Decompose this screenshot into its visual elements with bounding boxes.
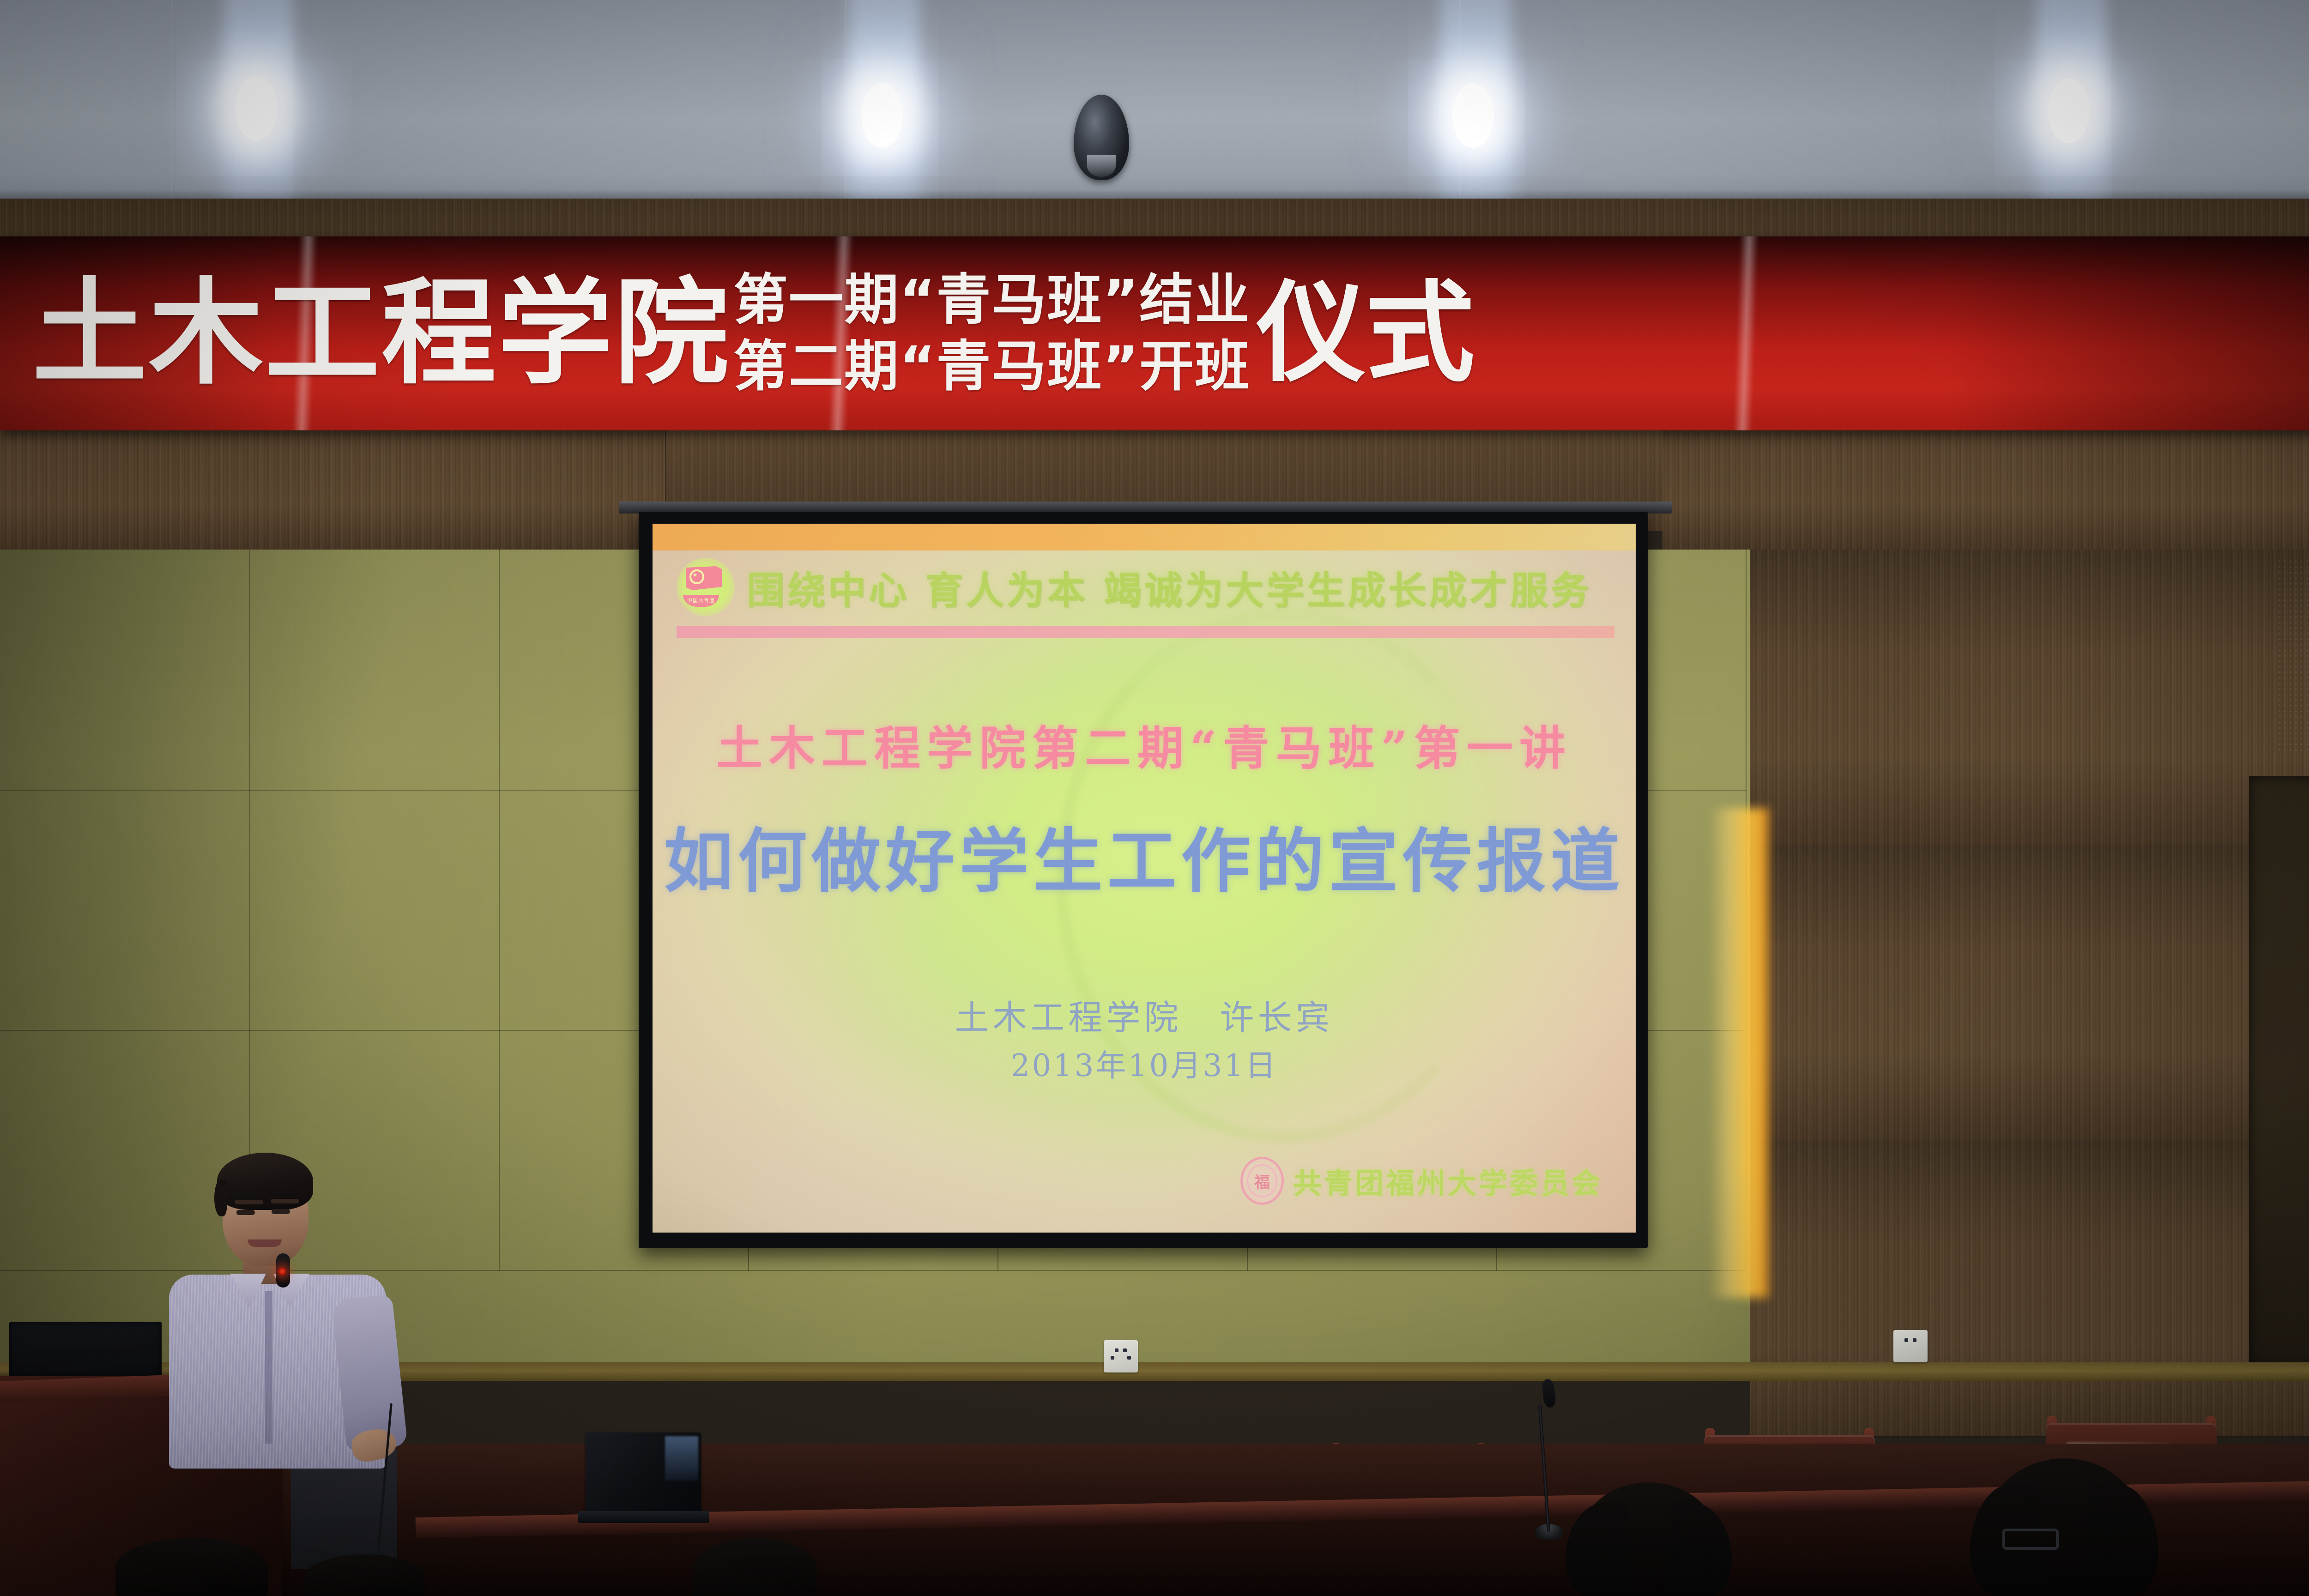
fuzhou-university-seal-icon: 福: [1240, 1157, 1284, 1205]
wall-socket-left: [1104, 1340, 1138, 1372]
glasses-icon: [2002, 1529, 2059, 1550]
spotlight-flare-4: [1972, 14, 2166, 208]
projection-screen-frame: 中国共青团 围绕中心 育人为本 竭诚为大学生成长成才服务 土木工程学院第二期“青…: [639, 512, 1648, 1248]
audience-head: [1579, 1482, 1718, 1596]
audience-head: [1986, 1458, 2143, 1596]
emblem-ribbon-text: 中国共青团: [683, 597, 719, 604]
banner-line-2: 第二期“青马班”开班: [733, 333, 1250, 400]
wood-panel-right: [1750, 845, 2074, 1142]
slide-footer-organization: 共青团福州大学委员会: [1293, 1160, 1602, 1202]
wall-accent-glow: [1709, 808, 1769, 1298]
slide-divider-rule: [677, 626, 1614, 638]
ceremony-banner: 土木工程学院 第一期“青马班”结业 第二期“青马班”开班 仪式: [0, 236, 2309, 430]
microphone-status-led: [278, 1267, 286, 1276]
audience-head: [115, 1538, 268, 1596]
audience-head: [305, 1554, 425, 1596]
slide-author: 土木工程学院 许长宾: [653, 990, 1636, 1040]
banner-line-1: 第一期“青马班”结业: [733, 267, 1250, 333]
speaker-presenter: [152, 1144, 402, 1468]
projected-slide: 中国共青团 围绕中心 育人为本 竭诚为大学生成长成才服务 土木工程学院第二期“青…: [653, 524, 1636, 1233]
slide-footer: 福 共青团福州大学委员会: [1240, 1157, 1602, 1205]
slide-title: 如何做好学生工作的宣传报道: [653, 805, 1636, 906]
slide-accent-band: [653, 524, 1636, 550]
wall-vent: [2277, 559, 2309, 753]
slide-date: 2013年10月31日: [653, 1041, 1636, 1085]
spotlight-flare-3: [1376, 18, 1570, 212]
slide-subtitle: 土木工程学院第二期“青马班”第一讲: [653, 711, 1636, 778]
wood-panel-right: [1750, 550, 2074, 846]
slide-header-slogan: 围绕中心 育人为本 竭诚为大学生成长成才服务: [747, 560, 1591, 615]
auditorium-photo-scene: 土木工程学院 第一期“青马班”结业 第二期“青马班”开班 仪式 中国共青团 围绕…: [0, 0, 2309, 1596]
banner-lead-text: 土木工程学院: [32, 276, 731, 391]
youth-league-flag-icon: 中国共青团: [677, 558, 735, 616]
side-doorway: [2249, 776, 2309, 1367]
table-laptop: [586, 1433, 701, 1523]
wall-socket-right: [1893, 1330, 1928, 1362]
wood-panel-right: [1750, 1141, 2074, 1437]
spotlight-flare-1: [159, 14, 353, 208]
slide-header: 中国共青团 围绕中心 育人为本 竭诚为大学生成长成才服务: [677, 552, 1617, 622]
banner-tail-text: 仪式: [1257, 279, 1475, 388]
seal-character: 福: [1254, 1170, 1270, 1192]
spotlight-flare-2: [785, 18, 979, 212]
